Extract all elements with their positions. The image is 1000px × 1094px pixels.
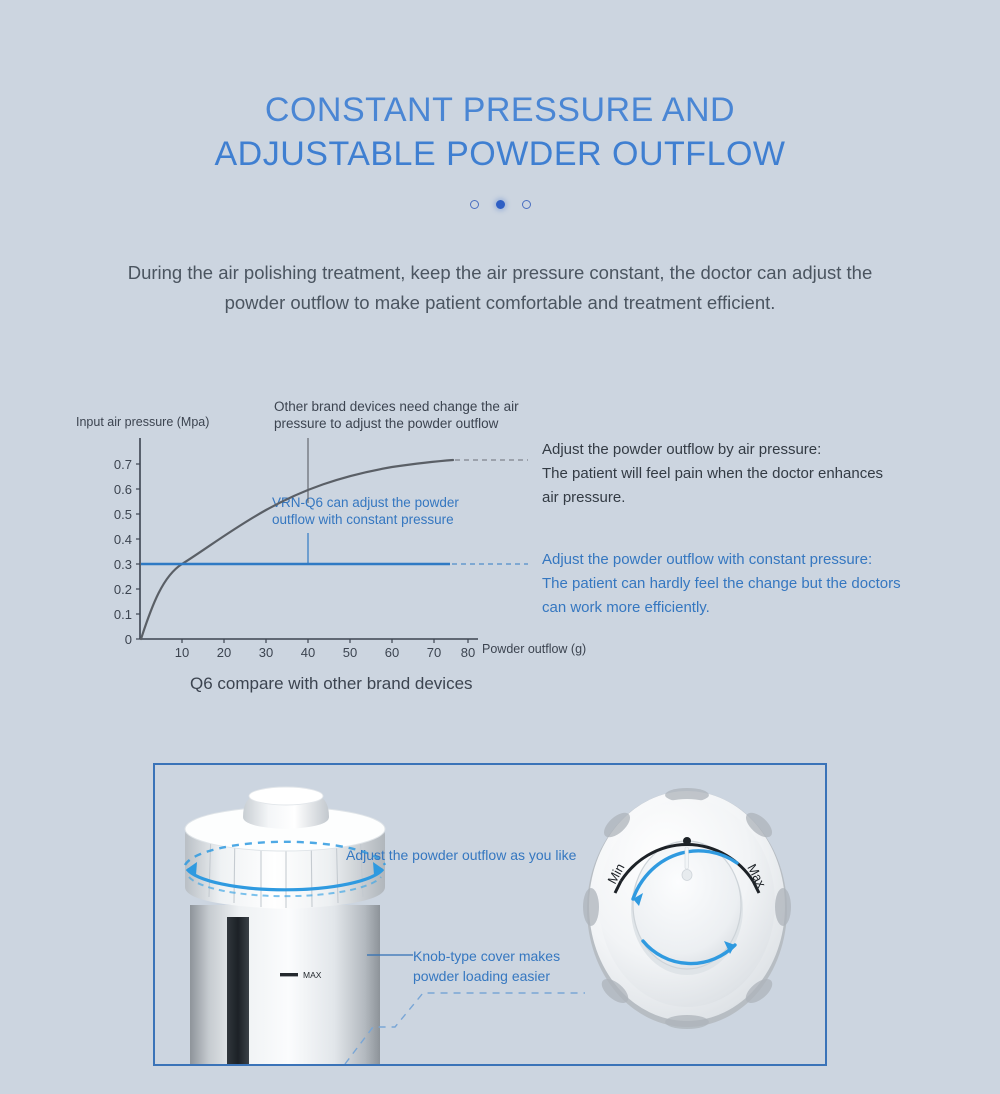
intro-paragraph: During the air polishing treatment, keep… bbox=[100, 258, 900, 318]
svg-text:0.2: 0.2 bbox=[114, 582, 132, 597]
label-adjust-powder-outflow: Adjust the powder outflow as you like bbox=[346, 845, 576, 865]
powder-canister-illustration: MAX bbox=[185, 787, 385, 1064]
canister-body bbox=[190, 905, 380, 1064]
svg-text:0.5: 0.5 bbox=[114, 507, 132, 522]
chart-series-other-brand bbox=[141, 460, 453, 639]
knob-dial-illustration: Min Max bbox=[583, 788, 791, 1029]
chart-caption: Q6 compare with other brand devices bbox=[190, 674, 473, 694]
label-knob-type-cover: Knob-type cover makes powder loading eas… bbox=[413, 946, 593, 986]
canister-level-window bbox=[227, 917, 249, 1064]
canister-max-label: MAX bbox=[303, 970, 322, 980]
comparison-chart: Other brand devices need change the air … bbox=[0, 390, 1000, 710]
svg-text:70: 70 bbox=[427, 645, 441, 660]
svg-text:0.3: 0.3 bbox=[114, 557, 132, 572]
dial-pointer-notch bbox=[685, 847, 688, 869]
page-title: CONSTANT PRESSURE AND ADJUSTABLE POWDER … bbox=[0, 88, 1000, 176]
carousel-dot-1[interactable] bbox=[470, 200, 479, 209]
product-feature-page: CONSTANT PRESSURE AND ADJUSTABLE POWDER … bbox=[0, 0, 1000, 1094]
product-illustration-svg: MAX bbox=[155, 765, 825, 1064]
svg-text:0.1: 0.1 bbox=[114, 607, 132, 622]
dial-center-marker-dot bbox=[683, 837, 691, 845]
leader-line-adjust-outflow bbox=[345, 993, 585, 1064]
chart-note-air-pressure: Adjust the powder outflow by air pressur… bbox=[542, 438, 972, 510]
svg-text:0: 0 bbox=[125, 632, 132, 647]
dial-pointer-bead bbox=[682, 870, 692, 881]
chart-x-tick-labels: 10 20 30 40 50 60 70 80 bbox=[175, 645, 475, 660]
svg-text:30: 30 bbox=[259, 645, 273, 660]
carousel-dot-3[interactable] bbox=[522, 200, 531, 209]
svg-text:50: 50 bbox=[343, 645, 357, 660]
canister-max-tick bbox=[280, 973, 298, 976]
carousel-dot-2-active[interactable] bbox=[496, 200, 505, 209]
svg-text:40: 40 bbox=[301, 645, 315, 660]
svg-text:0.4: 0.4 bbox=[114, 532, 132, 547]
svg-text:80: 80 bbox=[461, 645, 475, 660]
product-illustration-panel: MAX bbox=[153, 763, 827, 1066]
svg-text:60: 60 bbox=[385, 645, 399, 660]
carousel-dots bbox=[0, 200, 1000, 209]
chart-note-constant-pressure: Adjust the powder outflow with constant … bbox=[542, 548, 982, 620]
svg-text:0.6: 0.6 bbox=[114, 482, 132, 497]
svg-text:0.7: 0.7 bbox=[114, 457, 132, 472]
svg-text:20: 20 bbox=[217, 645, 231, 660]
page-title-line-1: CONSTANT PRESSURE AND bbox=[0, 88, 1000, 132]
svg-text:10: 10 bbox=[175, 645, 189, 660]
page-title-line-2: ADJUSTABLE POWDER OUTFLOW bbox=[0, 132, 1000, 176]
chart-y-tick-labels: 0 0.1 0.2 0.3 0.4 0.5 0.6 0.7 bbox=[114, 457, 132, 647]
